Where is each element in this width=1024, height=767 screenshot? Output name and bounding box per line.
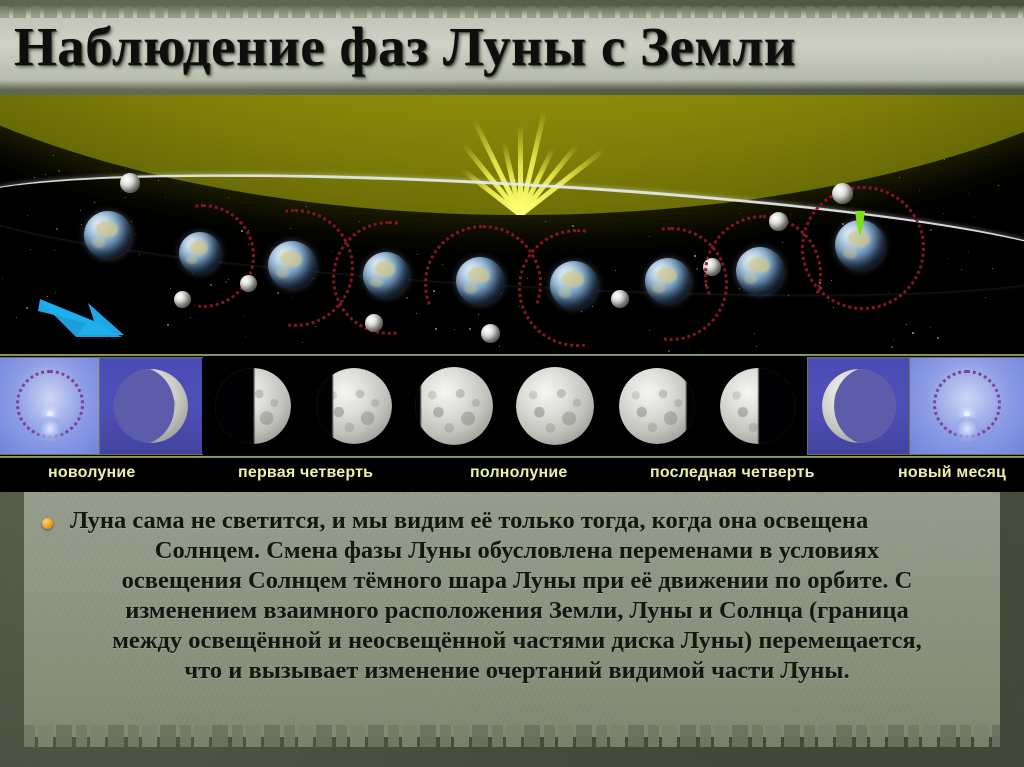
- star: [435, 328, 437, 330]
- moon-craters: [516, 367, 594, 445]
- moon-phase-disc: [114, 369, 188, 443]
- moon-terminator-shadow: [316, 368, 392, 444]
- star: [30, 249, 31, 250]
- star: [53, 155, 54, 156]
- earth-sphere: [645, 258, 691, 304]
- body-line: Луна сама не светится, и мы видим её тол…: [64, 506, 970, 536]
- earth-sphere: [363, 252, 409, 298]
- star: [315, 326, 316, 327]
- new-moon-earth-glow: [954, 416, 980, 442]
- phase-label: новый месяц: [898, 464, 1006, 482]
- star: [930, 314, 931, 315]
- star: [968, 193, 969, 194]
- star: [58, 170, 60, 172]
- moon-sphere: [120, 173, 140, 193]
- bullet-icon: [42, 518, 53, 529]
- moon-phase-disc: [720, 368, 796, 444]
- moon-terminator-shadow: [619, 368, 695, 444]
- star: [912, 332, 914, 334]
- moon-phase-tile[interactable]: [404, 358, 504, 454]
- moon-phase-tile[interactable]: [202, 358, 304, 454]
- star: [139, 254, 140, 255]
- star: [906, 324, 907, 325]
- phase-label: первая четверть: [238, 464, 373, 482]
- star: [649, 330, 650, 331]
- moon-sphere: [832, 183, 853, 204]
- earth-landmass: [92, 237, 105, 248]
- moon-phase-tile[interactable]: [808, 358, 910, 454]
- earth-landmass: [748, 257, 769, 273]
- moon-phase-disc: [822, 369, 896, 443]
- moon-phase-disc: [316, 368, 392, 444]
- star: [919, 190, 920, 191]
- earth-landmass: [558, 287, 571, 298]
- body-line: Солнцем. Смена фазы Луны обусловлена пер…: [64, 536, 970, 566]
- star: [893, 339, 894, 340]
- earth-landmass: [190, 240, 208, 254]
- star: [478, 314, 479, 315]
- earth-sphere: [456, 257, 504, 305]
- filmstrip-rule-bottom: [0, 456, 1024, 458]
- moon-phase-tile[interactable]: [100, 358, 202, 454]
- moon-terminator-shadow: [415, 367, 493, 445]
- earth-landmass: [186, 255, 198, 264]
- star: [302, 342, 303, 343]
- earth-landmass: [370, 277, 383, 287]
- moon-terminator-shadow: [215, 368, 291, 444]
- earth-sphere: [179, 232, 221, 274]
- star: [111, 172, 112, 173]
- earth-landmass: [96, 221, 117, 237]
- earth-landmass: [464, 283, 477, 294]
- moon-phase-filmstrip: [0, 352, 1024, 462]
- moon-phase-tile[interactable]: [606, 358, 708, 454]
- moon-phase-tile[interactable]: [304, 358, 404, 454]
- earth-sphere: [84, 211, 132, 259]
- moon-phase-tile[interactable]: [708, 358, 808, 454]
- star: [125, 168, 126, 169]
- earth-landmass: [280, 251, 301, 267]
- body-line: что и вызывает изменение очертаний видим…: [64, 656, 970, 686]
- moon-phase-tile[interactable]: [0, 358, 100, 454]
- star: [944, 159, 945, 160]
- observer-marker-arrow-icon: [851, 211, 869, 237]
- moon-phase-tile[interactable]: [504, 358, 606, 454]
- star: [499, 346, 500, 347]
- star: [998, 185, 999, 186]
- star: [833, 307, 834, 308]
- earth-landmass: [652, 283, 665, 293]
- moon-terminator-shadow: [720, 368, 796, 444]
- phase-label: полнолуние: [470, 464, 568, 482]
- earth-landmass: [657, 267, 677, 283]
- star: [828, 301, 829, 302]
- moon-sphere: [365, 314, 383, 332]
- earth-sphere: [736, 247, 784, 295]
- moon-sphere: [769, 212, 788, 231]
- star: [244, 315, 245, 316]
- moon-sphere: [240, 275, 257, 292]
- moon-phase-disc: [619, 368, 695, 444]
- star: [245, 336, 246, 337]
- star: [974, 216, 975, 217]
- star: [190, 317, 191, 318]
- phase-label-bar: новолуниепервая четвертьполнолуниепослед…: [0, 460, 1024, 492]
- star: [406, 297, 408, 299]
- star: [454, 329, 455, 330]
- star: [26, 307, 28, 309]
- moon-phase-disc: [516, 367, 594, 445]
- moon-phase-disc: [215, 368, 291, 444]
- new-moon-earth-glow: [37, 416, 63, 442]
- earth-landmass: [843, 248, 857, 259]
- star: [592, 306, 593, 307]
- star: [167, 324, 169, 326]
- star: [985, 297, 986, 298]
- star: [704, 334, 705, 335]
- star: [754, 333, 755, 334]
- earth-landmass: [375, 261, 395, 277]
- star: [469, 328, 471, 330]
- star: [2, 278, 3, 279]
- star: [34, 177, 35, 178]
- earth-moon-orbit-diagram: [0, 95, 1024, 357]
- star: [416, 313, 417, 314]
- phase-label: новолуние: [48, 464, 136, 482]
- direction-arrow-icon: [36, 291, 128, 349]
- star: [756, 346, 757, 347]
- star: [891, 346, 893, 348]
- star: [878, 318, 879, 319]
- star: [277, 292, 279, 294]
- body-line: между освещённой и неосвещённой частями …: [64, 626, 970, 656]
- star: [16, 317, 17, 318]
- body-paragraph: Луна сама не светится, и мы видим её тол…: [64, 506, 970, 686]
- star: [937, 337, 939, 339]
- star: [45, 174, 46, 175]
- star: [170, 288, 171, 289]
- earth-landmass: [562, 271, 583, 287]
- star: [899, 177, 900, 178]
- phase-label: последная четверть: [650, 464, 815, 482]
- slide-root: Наблюдение фаз Луны с Земли новолуниепер…: [0, 0, 1024, 767]
- filmstrip-rule-top: [0, 354, 1024, 356]
- moon-sphere: [174, 291, 191, 308]
- earth-landmass: [276, 267, 289, 278]
- star: [943, 213, 944, 214]
- earth-landmass: [744, 273, 757, 284]
- page-title: Наблюдение фаз Луны с Земли: [14, 16, 796, 78]
- moon-sphere: [611, 290, 629, 308]
- star: [54, 250, 55, 251]
- moon-sphere: [481, 324, 500, 343]
- earth-sphere: [550, 261, 598, 309]
- moon-phase-tile[interactable]: [910, 358, 1024, 454]
- body-line: изменением взаимного расположения Земли,…: [64, 596, 970, 626]
- star: [519, 306, 520, 307]
- earth-sphere: [268, 241, 316, 289]
- earth-landmass: [468, 267, 489, 283]
- moon-phase-disc: [415, 367, 493, 445]
- body-line: освещения Солнцем тёмного шара Луны при …: [64, 566, 970, 596]
- star: [930, 327, 931, 328]
